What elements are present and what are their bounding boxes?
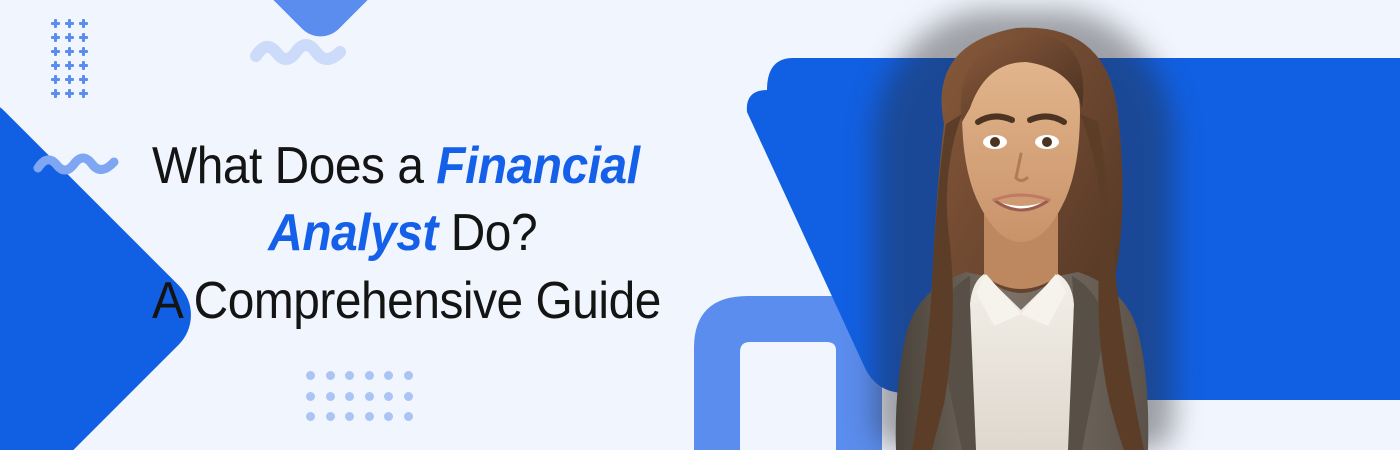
dot-icon — [306, 392, 315, 401]
cross-icon — [64, 74, 78, 88]
headline-line-2: Analyst Do? — [152, 200, 653, 268]
cross-icon — [50, 74, 64, 88]
cross-icon — [64, 32, 78, 46]
dot-icon — [345, 371, 354, 380]
dot-icon — [326, 392, 335, 401]
dot-icon — [404, 412, 413, 421]
cross-icon — [78, 18, 92, 32]
hero-banner: What Does a Financial Analyst Do? A Comp… — [0, 0, 1400, 450]
dot-icon — [326, 371, 335, 380]
page-title: What Does a Financial Analyst Do? A Comp… — [152, 133, 653, 336]
cross-icon — [50, 46, 64, 60]
dot-icon — [345, 392, 354, 401]
headline-text-do: Do? — [438, 204, 537, 262]
dot-icon — [384, 371, 393, 380]
dot-icon — [404, 371, 413, 380]
cross-icon — [64, 18, 78, 32]
decorative-cross-grid — [50, 18, 92, 102]
cross-icon — [78, 88, 92, 102]
cross-icon — [78, 60, 92, 74]
decorative-squiggle-left — [33, 150, 119, 178]
decorative-squiggle-top — [248, 36, 348, 72]
dot-icon — [326, 412, 335, 421]
headline-line-3: A Comprehensive Guide — [152, 268, 653, 336]
cross-icon — [64, 46, 78, 60]
headline-accent-analyst: Analyst — [268, 204, 438, 262]
cross-icon — [50, 60, 64, 74]
headline-accent-financial: Financial — [436, 137, 639, 195]
dot-icon — [384, 412, 393, 421]
dot-icon — [306, 412, 315, 421]
dot-icon — [345, 412, 354, 421]
cross-icon — [50, 32, 64, 46]
dot-icon — [365, 371, 374, 380]
dot-icon — [306, 371, 315, 380]
portrait-photo — [866, 4, 1176, 450]
cross-icon — [78, 46, 92, 60]
cross-icon — [78, 32, 92, 46]
cross-icon — [64, 60, 78, 74]
decorative-dot-grid — [306, 371, 423, 433]
cross-icon — [50, 88, 64, 102]
headline-line-1: What Does a Financial — [152, 133, 653, 201]
cross-icon — [78, 74, 92, 88]
cross-icon — [64, 88, 78, 102]
dot-icon — [404, 392, 413, 401]
dot-icon — [365, 412, 374, 421]
dot-icon — [365, 392, 374, 401]
headline-text-plain: What Does a — [152, 137, 436, 195]
portrait-illustration — [866, 4, 1176, 450]
dot-icon — [384, 392, 393, 401]
cross-icon — [50, 18, 64, 32]
